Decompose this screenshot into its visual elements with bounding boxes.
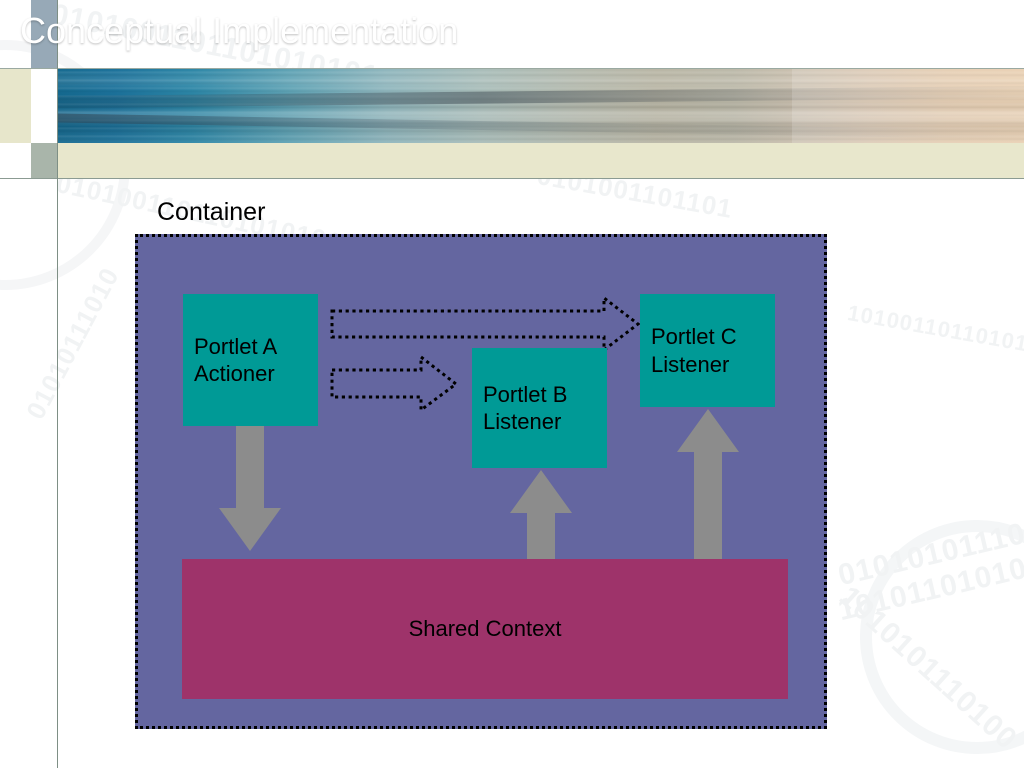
conceptual-implementation-diagram: Container Portlet A Actioner Portlet B L… (0, 0, 1024, 768)
portlet-a-line1: Portlet A (183, 333, 318, 361)
portlet-b-line2: Listener (472, 408, 607, 436)
portlet-c-box[interactable]: Portlet C Listener (640, 294, 775, 407)
portlet-a-box[interactable]: Portlet A Actioner (183, 294, 318, 426)
portlet-c-line1: Portlet C (640, 323, 775, 351)
portlet-a-line2: Actioner (183, 360, 318, 388)
portlet-b-box[interactable]: Portlet B Listener (472, 348, 607, 468)
container-label: Container (157, 198, 265, 227)
shared-context-label: Shared Context (409, 616, 562, 642)
portlet-b-line1: Portlet B (472, 381, 607, 409)
portlet-c-line2: Listener (640, 351, 775, 379)
shared-context-box[interactable]: Shared Context (182, 559, 788, 699)
slide-canvas: 01010011011010101011010100 0101001101101… (0, 0, 1024, 768)
